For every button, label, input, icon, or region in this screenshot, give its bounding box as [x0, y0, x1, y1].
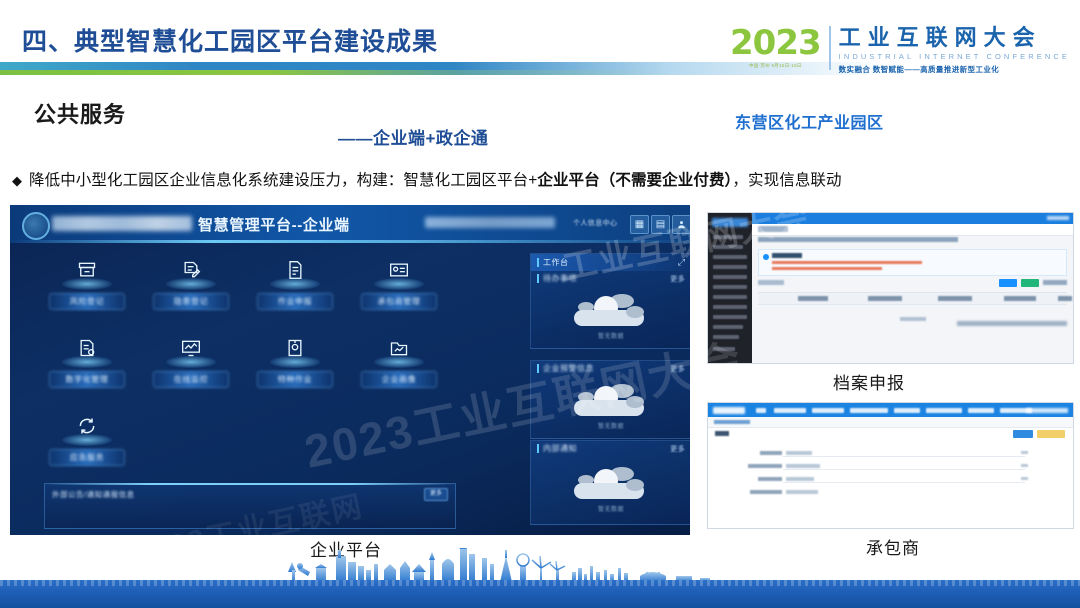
- archive-titlebar: [752, 213, 1073, 224]
- empty-state: 暂无数据: [568, 463, 654, 513]
- app-tile-label: 风险登记: [49, 293, 125, 310]
- skyline-graphic: [0, 548, 1080, 582]
- todo-card-header: 待办事项 更多: [531, 271, 690, 286]
- internal-notice-header: 内部通知 更多: [531, 441, 690, 456]
- safety-icon: [275, 331, 315, 365]
- app-tile-1[interactable]: 隐患登记: [148, 253, 234, 323]
- app-tile-label: 企业画像: [361, 371, 437, 388]
- contractor-navbar: [708, 403, 1073, 417]
- archive-query-button[interactable]: [999, 279, 1017, 287]
- archive-declaration-screenshot: [707, 212, 1074, 364]
- archive-sidebar: [708, 213, 752, 363]
- nav-item[interactable]: [968, 408, 994, 413]
- contractor-save-button[interactable]: [1013, 430, 1033, 438]
- app-tile-4[interactable]: 数字化管理: [44, 331, 130, 401]
- form-value[interactable]: [786, 490, 818, 494]
- logo-year: 2023: [730, 26, 821, 60]
- cloud-icon: [568, 290, 654, 330]
- bullet-row: ◆ 降低中小型化工园区企业信息化系统建设压力，构建：智慧化工园区平台+企业平台（…: [12, 168, 1072, 190]
- workbench-card-header: 工作台 ⤢: [531, 254, 690, 271]
- accent-bar: [537, 258, 539, 267]
- logo-divider: [829, 26, 831, 70]
- archive-notice-title: [772, 253, 802, 258]
- archive-tab[interactable]: [758, 226, 788, 232]
- app-logo-text-blurred: [52, 216, 192, 231]
- app-tile-label: 数字化管理: [49, 371, 125, 388]
- center-subtitle: ——企业端+政企通: [338, 124, 488, 149]
- app-topbar-search-blurred: [425, 217, 555, 228]
- logo-year-subtitle: 中国·苏州 9月15日-16日: [749, 63, 802, 69]
- app-logo-icon: [22, 212, 50, 240]
- nav-item[interactable]: [812, 408, 844, 413]
- archive-box-icon: [67, 253, 107, 287]
- sidebar-item[interactable]: [713, 295, 747, 299]
- archive-pagination[interactable]: [957, 321, 1067, 326]
- contractor-back-button[interactable]: [1037, 430, 1065, 438]
- table-header-cell: [938, 296, 972, 301]
- archive-notice-box: [758, 249, 1067, 276]
- todo-more-link[interactable]: 更多: [670, 274, 685, 284]
- sidebar-item[interactable]: [713, 255, 747, 259]
- contractor-logo: [713, 407, 745, 414]
- archive-notice-line: [772, 267, 882, 270]
- chevron-down-icon[interactable]: [1021, 451, 1028, 454]
- warning-more-link[interactable]: 更多: [670, 364, 685, 374]
- app-tile-label: 承包商管理: [361, 293, 437, 310]
- contractor-screenshot: [707, 402, 1074, 529]
- folder-chart-icon: [379, 331, 419, 365]
- form-label: [760, 451, 782, 455]
- contractor-section-title: [715, 431, 729, 436]
- empty-state: 暂无数据: [568, 380, 654, 430]
- conference-logo: 2023 中国·苏州 9月15日-16日 工业互联网大会 INDUSTRIAL …: [730, 26, 1070, 74]
- empty-state: 暂无数据: [568, 290, 654, 340]
- app-tile-7[interactable]: 企业画像: [356, 331, 442, 401]
- chevron-down-icon[interactable]: [1021, 464, 1028, 467]
- nav-item[interactable]: [850, 408, 888, 413]
- window-controls[interactable]: [1047, 216, 1069, 220]
- info-icon: [763, 254, 769, 260]
- section-label: 公共服务: [34, 97, 126, 129]
- contractor-nav-icons[interactable]: [1026, 408, 1068, 413]
- archive-add-button[interactable]: [1021, 279, 1039, 287]
- external-notice-panel: 外部公告/通知通报信息 更多: [44, 483, 456, 529]
- nav-item[interactable]: [756, 408, 766, 413]
- cloud-icon: [568, 380, 654, 420]
- form-value[interactable]: [786, 451, 812, 455]
- bullet-marker-icon: ◆: [12, 173, 22, 189]
- app-tile-5[interactable]: 在线监控: [148, 331, 234, 401]
- form-label: [758, 477, 782, 481]
- archive-filter-controls[interactable]: [758, 280, 784, 285]
- app-topbar: 智慧管理平台--企业端 个人信息中心 ▦ ▤: [10, 205, 690, 243]
- caption-archive-declaration: 档案申报: [833, 369, 905, 394]
- sidebar-item[interactable]: [713, 347, 735, 351]
- sidebar-item[interactable]: [713, 275, 747, 279]
- archive-tabbar: [752, 224, 1073, 236]
- archive-notice-line: [772, 261, 922, 264]
- form-value[interactable]: [786, 477, 814, 481]
- warning-card: 企业预警信息 更多 暂无数据: [530, 360, 690, 439]
- app-tile-label: 在线监控: [153, 371, 229, 388]
- archive-empty-text: [900, 317, 926, 321]
- sidebar-item[interactable]: [713, 315, 747, 319]
- sidebar-item[interactable]: [713, 265, 747, 269]
- sidebar-item[interactable]: [713, 285, 747, 289]
- contractor-breadcrumb: [714, 420, 750, 424]
- sidebar-item[interactable]: [713, 305, 747, 309]
- form-row: [708, 461, 1073, 472]
- workbench-card: 工作台 ⤢ 待办事项 更多 暂无数据: [530, 253, 690, 349]
- form-row: [708, 474, 1073, 485]
- sidebar-item[interactable]: [713, 235, 743, 239]
- app-tile-label: 隐患登记: [153, 293, 229, 310]
- id-card-icon: [379, 253, 419, 287]
- park-name-label: 东营区化工产业园区: [735, 109, 884, 133]
- app-topbar-user-text: 个人信息中心: [573, 218, 617, 228]
- accent-bar: [537, 364, 539, 373]
- grid-icon[interactable]: ▦: [630, 215, 649, 234]
- user-icon[interactable]: [672, 215, 690, 234]
- bullet-text: 降低中小型化工园区企业信息化系统建设压力，构建：智慧化工园区平台+企业平台（不需…: [29, 168, 842, 190]
- accent-bar: [537, 444, 539, 453]
- accent-bar: [537, 274, 539, 283]
- todo-card-body: 暂无数据: [531, 286, 690, 348]
- app-tile-2[interactable]: 作业申报: [252, 253, 338, 323]
- app-tile-0[interactable]: 风险登记: [44, 253, 130, 323]
- chevron-down-icon[interactable]: [1021, 477, 1028, 480]
- footer-skyline: [0, 548, 1080, 608]
- table-header-cell: [1058, 296, 1072, 301]
- edit-document-icon: [171, 253, 211, 287]
- nav-item[interactable]: [926, 408, 962, 413]
- todo-card-title: 待办事项: [543, 273, 577, 284]
- internal-notice-card: 内部通知 更多 暂无数据: [530, 440, 690, 525]
- bullet-text-bold: 企业平台（不需要企业付费）: [537, 172, 732, 189]
- form-row: [708, 487, 1073, 498]
- internal-notice-title: 内部通知: [543, 443, 577, 454]
- nav-item[interactable]: [774, 408, 806, 413]
- cloud-icon: [568, 463, 654, 503]
- table-header-cell: [1004, 296, 1036, 301]
- expand-icon[interactable]: ⤢: [678, 257, 685, 268]
- document-icon: [275, 253, 315, 287]
- archive-sidebar-logo: [712, 218, 748, 227]
- sidebar-item[interactable]: [713, 335, 739, 339]
- logo-english-name: INDUSTRIAL INTERNET CONFERENCE: [839, 52, 1070, 61]
- archive-table-header: [758, 292, 1067, 305]
- internal-notice-body: 暂无数据: [531, 456, 690, 524]
- external-notice-title: 外部公告/通知通报信息: [52, 489, 135, 500]
- internal-notice-more-link[interactable]: 更多: [670, 444, 685, 454]
- warning-card-body: 暂无数据: [531, 376, 690, 438]
- sidebar-item[interactable]: [713, 325, 743, 329]
- form-label: [748, 464, 782, 468]
- sidebar-item[interactable]: [713, 245, 743, 249]
- archive-breadcrumb: [758, 237, 958, 242]
- archive-export-button[interactable]: [1043, 280, 1067, 285]
- empty-state-text: 暂无数据: [568, 421, 654, 430]
- form-row: [708, 448, 1073, 459]
- table-header-cell: [868, 296, 902, 301]
- empty-state-text: 暂无数据: [568, 504, 654, 513]
- bullet-text-after: ，实现信息联动: [732, 172, 841, 189]
- bullet-text-before: 降低中小型化工园区企业信息化系统建设压力，构建：智慧化工园区平台+: [29, 172, 537, 189]
- logo-tagline: 数实融合 数智赋能——高质量推进新型工业化: [839, 64, 1070, 75]
- table-header-cell: [798, 296, 828, 301]
- app-tile-label: 特种作业: [257, 371, 333, 388]
- archive-main-area: [752, 213, 1073, 363]
- app-tile-8[interactable]: 应急服务: [44, 409, 130, 479]
- logo-chinese-name: 工业互联网大会: [839, 26, 1070, 50]
- app-tile-label: 应急服务: [49, 449, 125, 466]
- app-tile-label: 作业申报: [257, 293, 333, 310]
- message-icon[interactable]: ▤: [651, 215, 670, 234]
- warning-card-title: 企业预警信息: [543, 363, 594, 374]
- app-tile-6[interactable]: 特种作业: [252, 331, 338, 401]
- warning-card-header: 企业预警信息 更多: [531, 361, 690, 376]
- slide-header: 四、典型智慧化工园区平台建设成果 2023 中国·苏州 9月15日-16日 工业…: [0, 0, 1080, 84]
- chart-document-icon: [67, 331, 107, 365]
- workbench-card-title: 工作台: [543, 257, 569, 268]
- footer-water: [0, 580, 1080, 608]
- nav-item[interactable]: [894, 408, 920, 413]
- app-title: 智慧管理平台--企业端: [198, 214, 350, 235]
- app-tile-3[interactable]: 承包商管理: [356, 253, 442, 323]
- external-notice-more-button[interactable]: 更多: [424, 488, 448, 501]
- monitor-icon: [171, 331, 211, 365]
- app-tile-grid: 风险登记 隐患登记 作业申报 承包商管理 数字化管理 在线监控: [44, 253, 454, 478]
- form-value[interactable]: [786, 464, 820, 468]
- empty-state-text: 暂无数据: [568, 331, 654, 340]
- enterprise-platform-screenshot: 智慧管理平台--企业端 个人信息中心 ▦ ▤ 风险登记 隐患登记 作业申报: [10, 205, 690, 535]
- page-title: 四、典型智慧化工园区平台建设成果: [22, 22, 438, 58]
- refresh-cycle-icon: [67, 409, 107, 443]
- contractor-breadcrumb-bar: [708, 417, 1073, 428]
- form-label: [750, 490, 782, 494]
